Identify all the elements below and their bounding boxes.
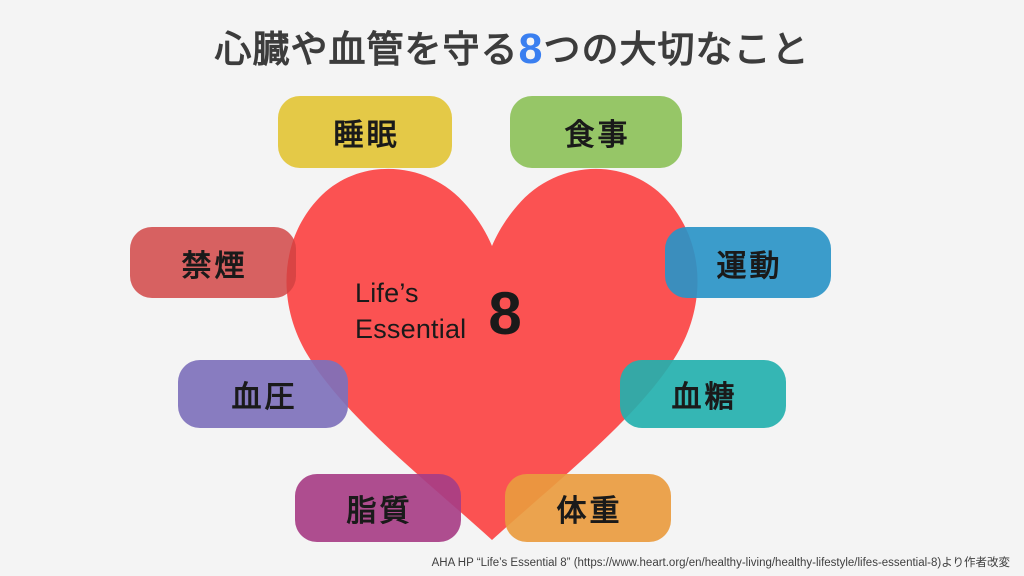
page-title: 心臓や血管を守る8つの大切なこと xyxy=(0,24,1024,76)
pill-label-weight: 体重 xyxy=(554,486,623,530)
slide-canvas: 心臓や血管を守る8つの大切なこと Life’s Essential 8 睡眠 食… xyxy=(0,0,1024,576)
source-citation: AHA HP “Life’s Essential 8” (https://www… xyxy=(432,554,1010,570)
pill-sleep[interactable]: 睡眠 xyxy=(278,96,452,168)
pill-label-exercise: 運動 xyxy=(714,241,783,285)
pill-diet[interactable]: 食事 xyxy=(510,96,682,168)
pill-label-blood-glucose: 血糖 xyxy=(669,372,738,416)
pill-label-blood-pressure: 血圧 xyxy=(229,372,298,416)
title-suffix: つの大切なこと xyxy=(543,29,809,70)
pill-label-no-smoking: 禁煙 xyxy=(179,241,248,285)
pill-label-lipids: 脂質 xyxy=(344,486,413,530)
pill-exercise[interactable]: 運動 xyxy=(665,227,831,298)
pill-blood-pressure[interactable]: 血圧 xyxy=(178,360,348,428)
pill-blood-glucose[interactable]: 血糖 xyxy=(620,360,786,428)
pill-label-diet: 食事 xyxy=(562,110,631,154)
title-prefix: 心臓や血管を守る xyxy=(215,29,519,70)
pill-weight[interactable]: 体重 xyxy=(505,474,671,542)
pill-label-sleep: 睡眠 xyxy=(331,110,400,154)
pill-lipids[interactable]: 脂質 xyxy=(295,474,461,542)
title-number: 8 xyxy=(519,25,544,73)
pill-no-smoking[interactable]: 禁煙 xyxy=(130,227,296,298)
